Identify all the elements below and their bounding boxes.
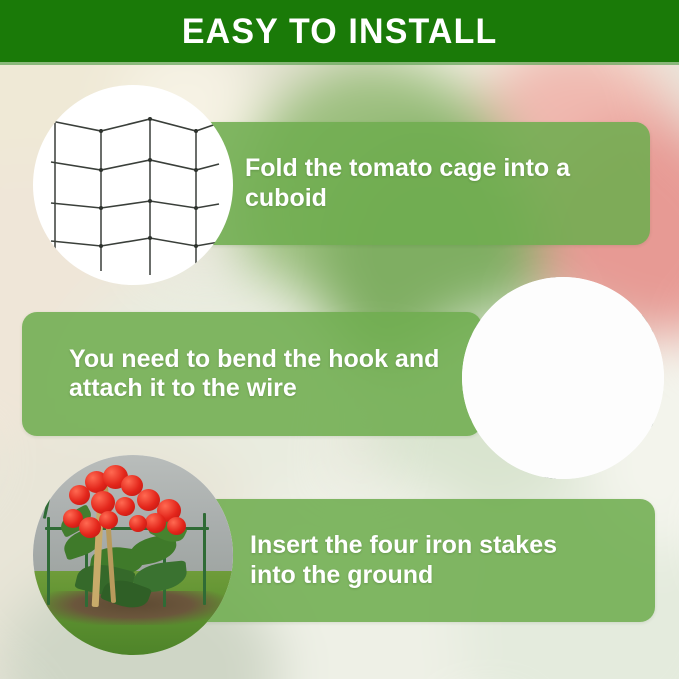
folded-tomato-cage-wireframe (33, 85, 233, 285)
product-infographic: EASY TO INSTALL Fold the tomato cage int… (0, 0, 679, 679)
step-2-text: You need to bend the hook and attach it … (69, 345, 439, 404)
cage-hook-joint-closeup (462, 277, 664, 479)
tomato-plant-in-cage-photo (33, 455, 233, 655)
step-3-text: Insert the four iron stakes into the gro… (250, 531, 557, 590)
step-1-card: Fold the tomato cage into a cuboid (186, 122, 650, 245)
step-1-text: Fold the tomato cage into a cuboid (245, 154, 650, 213)
step-3-card: Insert the four iron stakes into the gro… (188, 499, 655, 622)
header-banner: EASY TO INSTALL (0, 0, 679, 62)
cage-wireframe-drawing (33, 85, 233, 285)
step-2-card: You need to bend the hook and attach it … (22, 312, 482, 436)
page-title: EASY TO INSTALL (182, 14, 498, 49)
